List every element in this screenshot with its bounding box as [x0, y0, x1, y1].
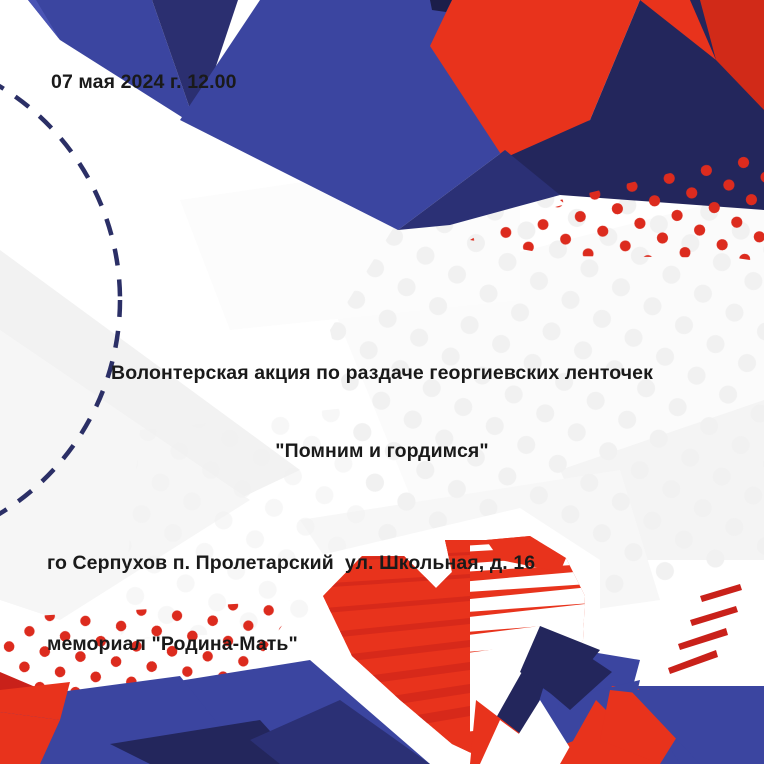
poster-artwork: [0, 0, 764, 764]
poster-canvas: 07 мая 2024 г. 12.00 Волонтерская акция …: [0, 0, 764, 764]
